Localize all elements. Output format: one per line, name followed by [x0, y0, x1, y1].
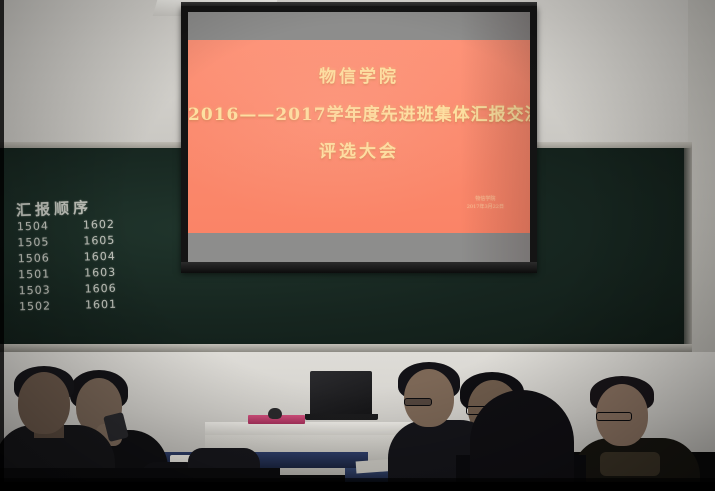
- chalk-item: 1505: [17, 235, 49, 250]
- laptop-base: [305, 414, 378, 420]
- chalk-item: 1604: [84, 250, 116, 265]
- chalk-item: 1506: [18, 251, 50, 266]
- right-wall-strip: [688, 0, 715, 380]
- left-letterbox: [0, 0, 4, 491]
- projector-screen-weight-bar: [181, 262, 537, 273]
- attendee-long-hair-hair: [470, 390, 574, 491]
- chalk-column-right: 1602 1605 1604 1603 1606 1601: [77, 218, 117, 313]
- classroom-photo: 汇报顺序 1504 1505 1506 1501 1503 1502 1602 …: [0, 0, 715, 491]
- slide-background: 物信学院 2016——2017学年度先进班集体汇报交流 评选大会 物信学院 20…: [188, 40, 530, 233]
- blackboard-chalk-ledge: [0, 344, 692, 352]
- glasses-icon: [404, 398, 432, 406]
- glasses-icon: [596, 412, 632, 421]
- projector-screen: 物信学院 2016——2017学年度先进班集体汇报交流 评选大会 物信学院 20…: [188, 12, 530, 264]
- chalk-item: 1605: [83, 234, 115, 249]
- chalk-item: 1502: [19, 299, 51, 314]
- slide-title-block: 物信学院 2016——2017学年度先进班集体汇报交流 评选大会: [188, 62, 530, 162]
- slide-line-3: 评选大会: [188, 137, 530, 162]
- chalk-heading: 汇报顺序: [16, 196, 93, 220]
- chalk-item: 1503: [18, 283, 50, 298]
- laptop-screen: [310, 371, 372, 415]
- chalk-item: 1602: [83, 218, 115, 233]
- chalk-class-list: 1504 1505 1506 1501 1503 1502 1602 1605 …: [17, 218, 117, 315]
- chalk-item: 1504: [17, 219, 49, 234]
- chalk-item: 1501: [18, 267, 50, 282]
- slide-subtitle-line-2: 2017年3月22日: [467, 203, 504, 211]
- chalk-item: 1601: [85, 298, 117, 313]
- attendee-right-collar: [600, 452, 660, 476]
- slide-subtitle-block: 物信学院 2017年3月22日: [467, 195, 504, 211]
- slide-line-1: 物信学院: [188, 62, 530, 87]
- chalk-item: 1606: [84, 282, 116, 297]
- blackboard-right-frame: [684, 148, 692, 348]
- chalk-item: 1603: [84, 266, 116, 281]
- mouse: [268, 408, 282, 419]
- slide-line-2: 2016——2017学年度先进班集体汇报交流: [188, 100, 530, 125]
- slide-subtitle-line-1: 物信学院: [467, 195, 504, 203]
- attendee-front-left-head: [18, 372, 70, 434]
- chalk-column-left: 1504 1505 1506 1501 1503 1502: [17, 219, 51, 314]
- bottom-letterbox: [0, 482, 715, 491]
